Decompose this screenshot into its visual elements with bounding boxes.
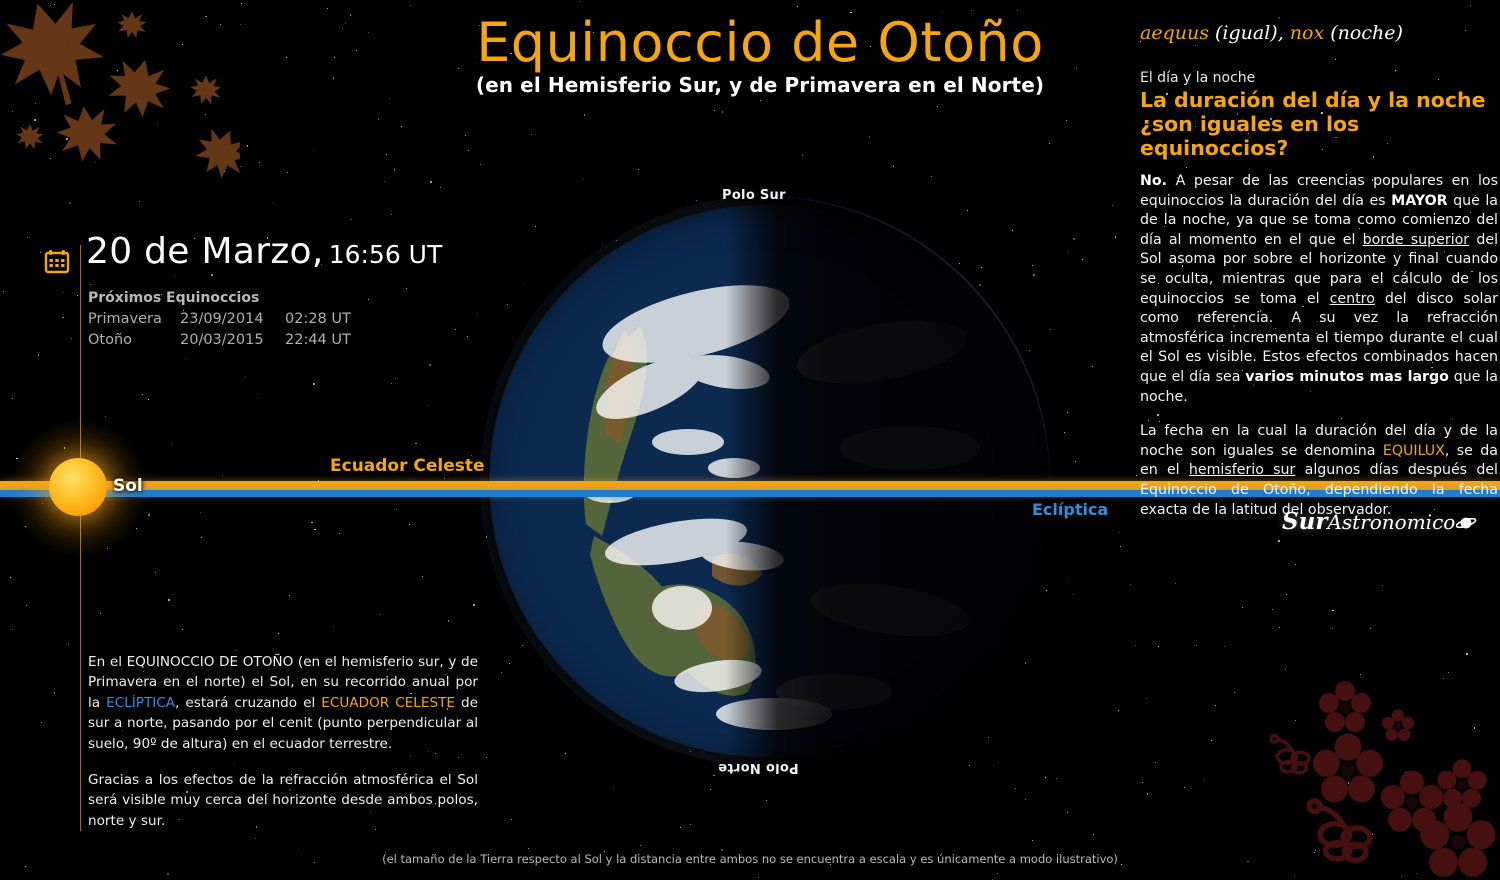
next-time-1: 22:44 UT	[285, 332, 351, 348]
sun-disc	[49, 458, 107, 516]
next-equinoxes-list: Primavera23/09/201402:28 UT Otoño20/03/2…	[88, 309, 351, 351]
ecliptic-label: Eclíptica	[1032, 500, 1108, 519]
pole-south-label: Polo Sur	[722, 188, 786, 203]
right-kicker: El día y la noche	[1140, 70, 1498, 86]
left-p1-ecliptic: ECLÍPTICA	[106, 695, 175, 711]
logo-sur: Sur	[1282, 508, 1327, 535]
etym-nox: nox	[1290, 22, 1324, 44]
right-question-line2: ¿son iguales en los equinoccios?	[1140, 112, 1359, 160]
equinox-date-comma: ,	[312, 231, 324, 272]
right-p2-equilux: EQUILUX	[1383, 443, 1445, 459]
right-paragraph-2: La fecha en la cual la duración del día …	[1140, 422, 1498, 520]
right-p2-hemisferio-sur: hemisferio sur	[1189, 462, 1296, 478]
next-date-1: 20/03/2015	[180, 330, 285, 351]
autumn-leaves-decoration	[0, 0, 240, 200]
saturn-icon	[1456, 515, 1478, 531]
right-panel: aequus (igual), nox (noche) El día y la …	[1140, 22, 1498, 535]
right-question: La duración del día y la noche ¿son igua…	[1140, 88, 1498, 160]
spring-flowers-decoration	[1270, 660, 1500, 880]
calendar-icon	[44, 249, 70, 274]
infographic-canvas: Polo Sur Polo Norte Ecuador Celeste Eclí…	[0, 0, 1500, 880]
left-paragraph-2: Gracias a los efectos de la refracción a…	[88, 770, 478, 831]
next-season-0: Primavera	[88, 309, 180, 330]
left-p1-equator: ECUADOR CELESTE	[321, 695, 455, 711]
right-p1-mayor: MAYOR	[1391, 193, 1448, 209]
left-description: En el EQUINOCCIO DE OTOÑO (en el hemisfe…	[88, 652, 478, 847]
equinox-time: 16:56 UT	[329, 240, 443, 269]
equinox-datetime: 20 de Marzo, 16:56 UT	[86, 231, 442, 272]
left-p1-b: , estará cruzando el	[175, 695, 321, 711]
right-question-line1: La duración del día y la noche	[1140, 88, 1485, 112]
pole-north-label: Polo Norte	[718, 760, 799, 775]
page-title: Equinoccio de Otoño	[350, 14, 1170, 71]
celestial-equator-label: Ecuador Celeste	[330, 456, 485, 476]
list-item: Primavera23/09/201402:28 UT	[88, 309, 351, 330]
etymology-line: aequus (igual), nox (noche)	[1140, 22, 1498, 44]
etym-igual: (igual),	[1209, 22, 1290, 44]
left-paragraph-1: En el EQUINOCCIO DE OTOÑO (en el hemisfe…	[88, 652, 478, 754]
next-equinoxes-heading: Próximos Equinoccios	[88, 290, 259, 306]
right-p1-borde-superior: borde superior	[1363, 232, 1470, 248]
right-p1-no: No.	[1140, 173, 1167, 189]
equinox-date: 20 de Marzo	[86, 231, 312, 272]
right-p1-centro: centro	[1330, 291, 1375, 307]
next-time-0: 02:28 UT	[285, 311, 351, 327]
next-date-0: 23/09/2014	[180, 309, 285, 330]
list-item: Otoño20/03/201522:44 UT	[88, 330, 351, 351]
etym-aequus: aequus	[1140, 22, 1209, 44]
sun-label: Sol	[113, 476, 143, 496]
page-title-block: Equinoccio de Otoño (en el Hemisferio Su…	[350, 14, 1170, 97]
etym-noche: (noche)	[1324, 22, 1403, 44]
next-season-1: Otoño	[88, 330, 180, 351]
right-p1-varios-minutos: varios minutos mas largo	[1245, 369, 1449, 385]
footer-disclaimer: (el tamaño de la Tierra respecto al Sol …	[0, 852, 1500, 866]
logo-astronomico: Astronomico	[1327, 510, 1455, 534]
page-subtitle: (en el Hemisferio Sur, y de Primavera en…	[350, 73, 1170, 97]
right-paragraph-1: No. A pesar de las creencias populares e…	[1140, 172, 1498, 407]
site-logo[interactable]: SurAstronomico	[1282, 508, 1478, 535]
